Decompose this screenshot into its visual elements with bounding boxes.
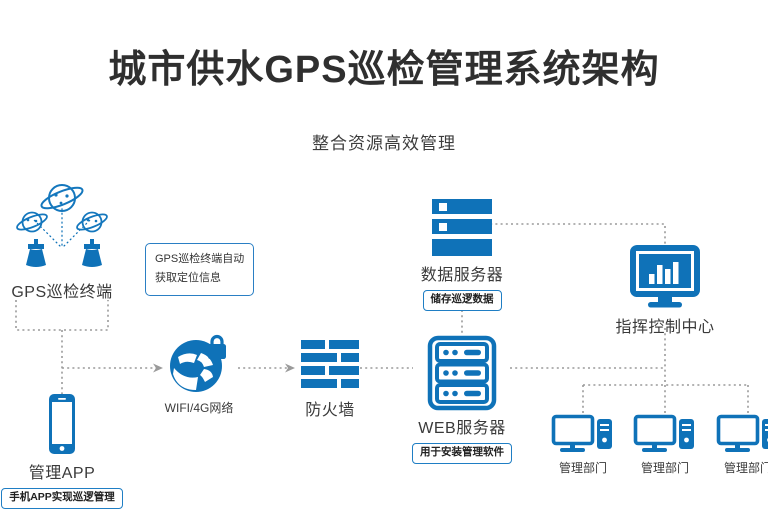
node-department-1[interactable]: 管理部门 xyxy=(543,415,623,476)
secure-globe-icon xyxy=(168,335,230,395)
monitor-chart-icon xyxy=(628,243,702,309)
node-department-3[interactable]: 管理部门 xyxy=(708,415,768,476)
node-mobile-app[interactable]: 管理APP 手机APP实现巡逻管理 xyxy=(20,393,104,509)
node-label-network: WIFI/4G网络 xyxy=(165,399,234,416)
node-network[interactable]: WIFI/4G网络 xyxy=(160,335,238,416)
desktop-pc-icon xyxy=(717,415,768,455)
node-gps-terminal[interactable]: GPS巡检终端 xyxy=(6,182,118,302)
gps-callout-line2: 获取定位信息 xyxy=(155,269,244,288)
node-department-2[interactable]: 管理部门 xyxy=(625,415,705,476)
node-label-control-center: 指挥控制中心 xyxy=(615,313,714,337)
line-gps-bracket xyxy=(16,300,108,330)
diagram-canvas: 城市供水GPS巡检管理系统架构 整合资源高效管理 xyxy=(0,0,768,531)
server-rack-icon xyxy=(428,336,496,410)
node-label-firewall: 防火墙 xyxy=(305,396,355,420)
brick-wall-icon xyxy=(299,340,361,392)
badge-mobile-app: 手机APP实现巡逻管理 xyxy=(1,488,123,509)
node-label-department-3: 管理部门 xyxy=(724,459,768,476)
node-label-gps-terminal: GPS巡检终端 xyxy=(11,278,112,302)
node-firewall[interactable]: 防火墙 xyxy=(296,340,364,420)
node-control-center[interactable]: 指挥控制中心 xyxy=(615,243,715,337)
node-data-server[interactable]: 数据服务器 储存巡逻数据 xyxy=(405,199,519,311)
node-label-web-server: WEB服务器 xyxy=(418,414,505,438)
desktop-pc-icon xyxy=(634,415,696,455)
database-stack-icon xyxy=(430,199,494,257)
gps-callout-line1: GPS巡检终端自动 xyxy=(155,250,244,269)
smartphone-icon xyxy=(42,393,82,455)
node-label-department-2: 管理部门 xyxy=(641,459,689,476)
lock-glyph xyxy=(208,337,226,360)
desktop-pc-icon xyxy=(552,415,614,455)
node-label-department-1: 管理部门 xyxy=(559,459,607,476)
node-label-data-server: 数据服务器 xyxy=(421,261,504,285)
node-label-mobile-app: 管理APP xyxy=(29,459,96,483)
badge-data-server: 储存巡逻数据 xyxy=(423,290,502,311)
node-web-server[interactable]: WEB服务器 用于安装管理软件 xyxy=(405,336,519,464)
satellite-terminal-icon xyxy=(6,182,118,274)
gps-callout-box: GPS巡检终端自动 获取定位信息 xyxy=(145,243,254,296)
badge-web-server: 用于安装管理软件 xyxy=(412,443,512,464)
